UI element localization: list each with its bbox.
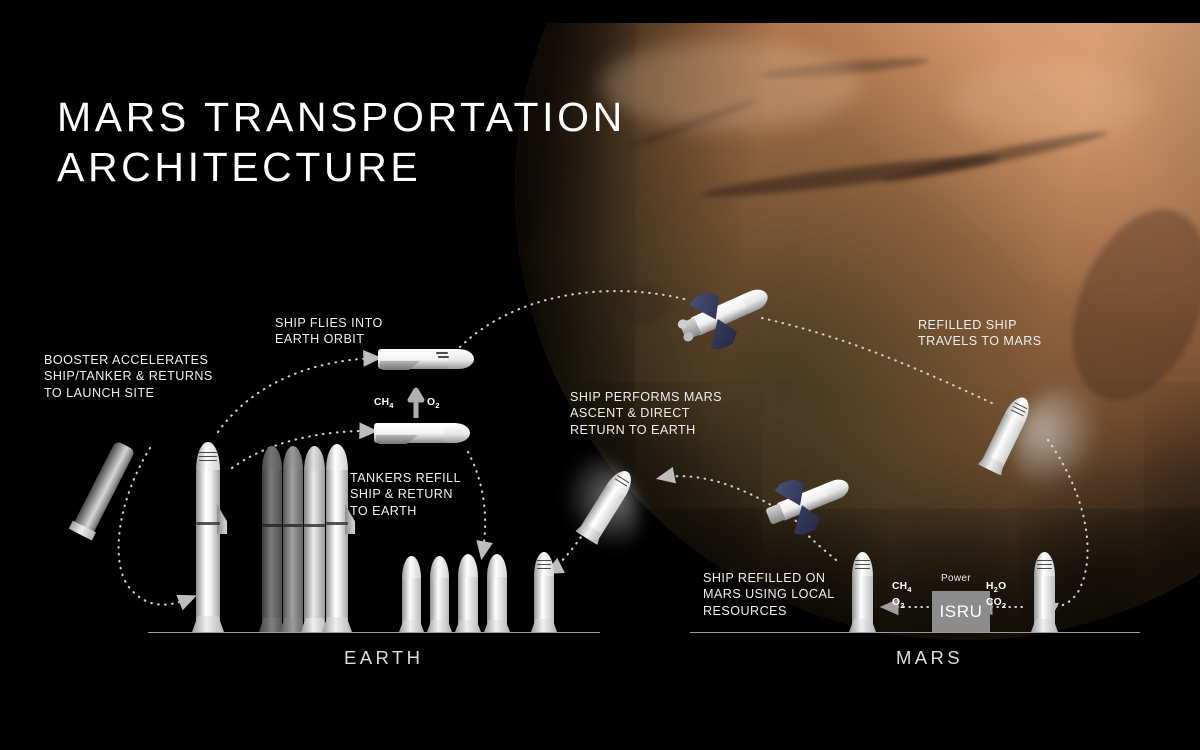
vehicle-fleet-rocket (326, 444, 348, 632)
earth-tanker (402, 556, 421, 632)
vehicle-fleet-rocket (283, 446, 303, 632)
isru-input-label: H2O CO2 (986, 580, 1006, 612)
path-tanker-to-orbit (232, 431, 374, 468)
earth-launch-stack (196, 442, 220, 632)
mars-ground-line (690, 632, 1140, 633)
ship-returning-to-earth (577, 466, 637, 544)
isru-output-label: CH4 O2 (892, 580, 912, 612)
earth-tanker (487, 554, 507, 632)
slide-canvas: ISRU Power CH4 O2 CH4 O2 H2O CO2 MARS TR… (0, 0, 1200, 750)
annotation-ship-earth-orbit: SHIP FLIES INTO EARTH ORBIT (275, 315, 455, 348)
vehicle-fleet-rocket (262, 446, 282, 632)
returned-ship-on-earth (534, 552, 554, 632)
path-booster-return (119, 448, 193, 605)
letterbox-top (0, 0, 1200, 23)
annotation-tankers-refill: TANKERS REFILL SHIP & RETURN TO EARTH (350, 470, 520, 519)
vehicle-fleet-rocket (304, 446, 325, 632)
annotation-ship-refilled-mars: SHIP REFILLED ON MARS USING LOCAL RESOUR… (703, 570, 893, 619)
earth-tanker (430, 556, 449, 632)
propellant-label-o2: O2 (427, 396, 440, 412)
annotation-booster-returns: BOOSTER ACCELERATES SHIP/TANKER & RETURN… (44, 352, 244, 401)
ship-on-mars-arrived (1034, 552, 1055, 632)
ship-in-earth-orbit (378, 346, 474, 372)
annotation-refilled-ship: REFILLED SHIP TRAVELS TO MARS (918, 317, 1098, 350)
isru-plant: ISRU (932, 591, 990, 632)
propellant-label-ch4: CH4 (374, 396, 394, 412)
page-title: MARS TRANSPORTATION ARCHITECTURE (57, 92, 626, 192)
mars-label: MARS (896, 647, 963, 669)
earth-ground-line (148, 632, 600, 633)
earth-tanker (458, 554, 478, 632)
tanker-in-earth-orbit (374, 420, 470, 446)
isru-power-label: Power (941, 573, 971, 584)
earth-label: EARTH (344, 647, 423, 669)
annotation-mars-ascent: SHIP PERFORMS MARS ASCENT & DIRECT RETUR… (570, 389, 760, 438)
returning-booster (70, 440, 135, 539)
letterbox-bottom (0, 736, 1200, 750)
